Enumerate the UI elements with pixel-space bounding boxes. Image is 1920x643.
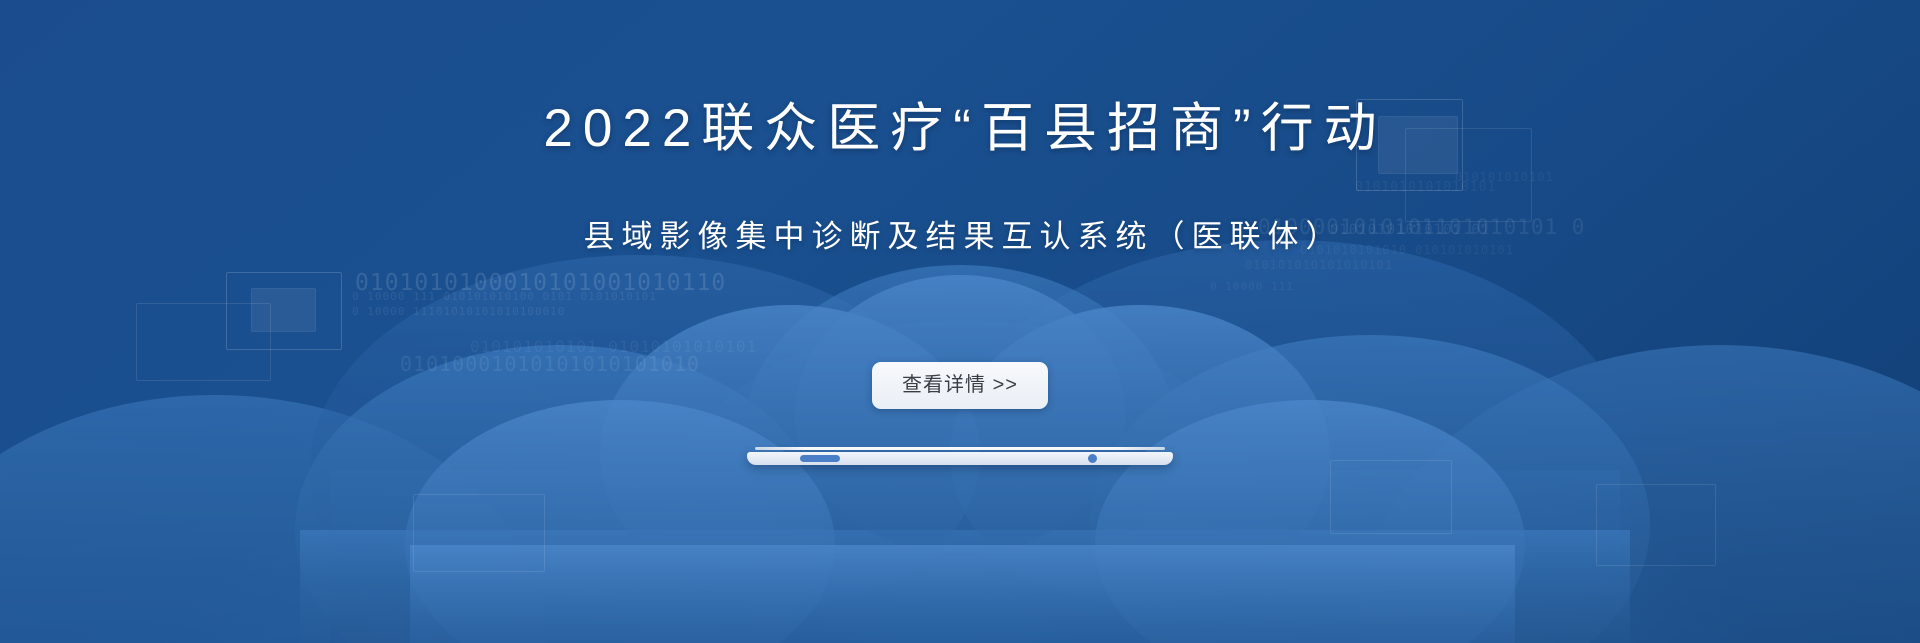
view-details-button[interactable]: 查看详情 >> xyxy=(872,362,1048,409)
page-title: 2022联众医疗“百县招商”行动 xyxy=(0,98,1920,160)
banner-content: 2022联众医疗“百县招商”行动 县域影像集中诊断及结果互认系统（医联体） 查看… xyxy=(0,0,1920,643)
cta-container: 查看详情 >> xyxy=(0,362,1920,409)
device-speaker-pill xyxy=(800,455,840,462)
page-subtitle: 县域影像集中诊断及结果互认系统（医联体） xyxy=(0,216,1920,258)
promo-banner: 0101010100010101001010110 0 10000 111 01… xyxy=(0,0,1920,643)
device-illustration xyxy=(747,447,1173,471)
device-screen-edge xyxy=(755,447,1165,450)
device-indicator-dot xyxy=(1088,454,1097,463)
